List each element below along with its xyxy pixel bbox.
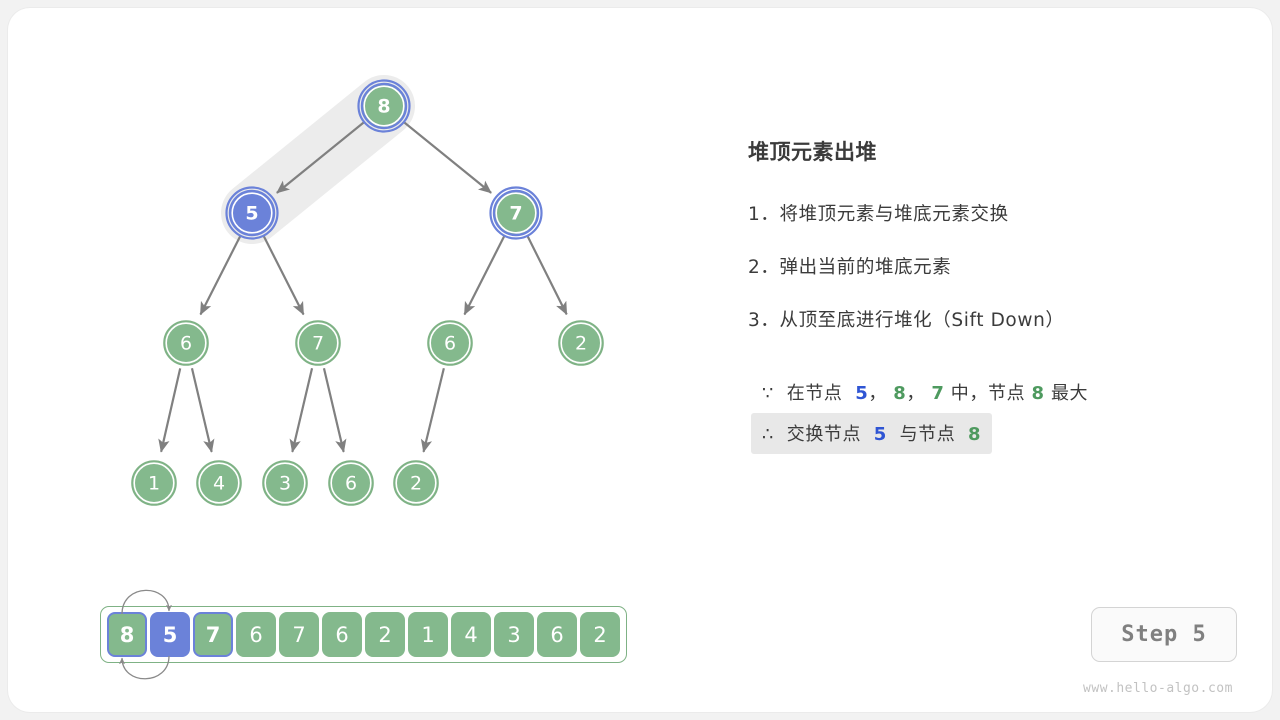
slide-canvas: 857676214362 堆顶元素出堆 1．将堆顶元素与堆底元素交换 2．弹出当… <box>0 0 1280 720</box>
node-value: 1 <box>148 473 160 495</box>
heap-array-region: 857676214362 <box>100 606 627 663</box>
reasoning-group: ∵ 在节点 5， 8， 7 中，节点 8 最大 ∴ 交换节点 5 与节点 <box>748 372 1248 454</box>
array-cell-2: 7 <box>193 612 233 657</box>
node-value: 5 <box>245 203 258 225</box>
tree-edge-7 <box>192 368 212 452</box>
step-badge: Step 5 <box>1091 607 1237 662</box>
tree-edge-1 <box>404 122 491 192</box>
node-value: 6 <box>444 333 456 355</box>
tree-node-3: 6 <box>164 321 208 365</box>
tree-node-11: 2 <box>394 461 438 505</box>
tree-node-10: 6 <box>329 461 373 505</box>
because-line: ∵ 在节点 5， 8， 7 中，节点 8 最大 <box>751 372 1099 413</box>
array-cell-8: 4 <box>451 612 491 657</box>
array-cell-6: 2 <box>365 612 405 657</box>
page-title: 堆顶元素出堆 <box>748 136 1248 166</box>
therefore-line: ∴ 交换节点 5 与节点 8 <box>751 413 992 454</box>
therefore-prefix: 交换节点 <box>787 424 861 445</box>
because-sep-1: ， <box>868 383 887 404</box>
because-symbol: ∵ <box>762 383 774 404</box>
tree-node-8: 4 <box>197 461 241 505</box>
binary-heap-tree: 857676214362 <box>8 8 728 568</box>
array-cell-11: 2 <box>580 612 620 657</box>
therefore-symbol: ∴ <box>762 424 774 445</box>
node-value: 2 <box>410 473 422 495</box>
node-value: 6 <box>180 333 192 355</box>
tree-edge-10 <box>424 368 444 452</box>
tree-edge-4 <box>464 236 504 314</box>
node-value: 7 <box>312 333 324 355</box>
therefore-value-1: 5 <box>874 424 887 445</box>
because-value-1: 5 <box>855 383 868 404</box>
watermark: www.hello-algo.com <box>1078 681 1238 696</box>
node-value: 2 <box>575 333 587 355</box>
tree-edge-9 <box>324 368 344 452</box>
tree-edge-6 <box>161 368 180 451</box>
therefore-line-row: ∴ 交换节点 5 与节点 8 <box>748 413 1248 454</box>
step-item-3: 3．从顶至底进行堆化（Sift Down） <box>748 306 1248 332</box>
because-prefix: 在节点 <box>787 383 843 404</box>
tree-node-9: 3 <box>263 461 307 505</box>
node-value: 4 <box>213 473 225 495</box>
because-value-4: 8 <box>1032 383 1045 404</box>
because-value-3: 7 <box>931 383 944 404</box>
tree-edge-8 <box>292 368 312 452</box>
because-value-2: 8 <box>893 383 906 404</box>
tree-node-2: 7 <box>491 188 542 239</box>
tree-node-4: 7 <box>296 321 340 365</box>
array-cell-10: 6 <box>537 612 577 657</box>
because-middle: 中，节点 <box>951 383 1025 404</box>
tree-node-1: 5 <box>227 188 278 239</box>
array-cell-4: 7 <box>279 612 319 657</box>
explanation-column: 堆顶元素出堆 1．将堆顶元素与堆底元素交换 2．弹出当前的堆底元素 3．从顶至底… <box>748 136 1248 454</box>
heap-array: 857676214362 <box>100 606 627 663</box>
node-value: 3 <box>279 473 291 495</box>
tree-node-5: 6 <box>428 321 472 365</box>
node-value: 6 <box>345 473 357 495</box>
array-cell-5: 6 <box>322 612 362 657</box>
tree-node-6: 2 <box>559 321 603 365</box>
array-cell-9: 3 <box>494 612 534 657</box>
tree-edges <box>161 122 567 452</box>
tree-edge-3 <box>264 236 304 314</box>
array-cell-1: 5 <box>150 612 190 657</box>
therefore-value-2: 8 <box>968 424 981 445</box>
node-value: 8 <box>377 96 390 118</box>
therefore-middle: 与节点 <box>900 424 956 445</box>
because-sep-2: ， <box>906 383 925 404</box>
tree-node-0: 8 <box>359 81 410 132</box>
tree-node-7: 1 <box>132 461 176 505</box>
tree-edge-5 <box>528 236 567 314</box>
node-value: 7 <box>509 203 522 225</box>
array-cell-7: 1 <box>408 612 448 657</box>
white-panel: 857676214362 堆顶元素出堆 1．将堆顶元素与堆底元素交换 2．弹出当… <box>8 8 1272 712</box>
tree-edge-2 <box>200 236 240 314</box>
because-suffix: 最大 <box>1051 383 1088 404</box>
array-cell-3: 6 <box>236 612 276 657</box>
step-item-1: 1．将堆顶元素与堆底元素交换 <box>748 200 1248 226</box>
array-cell-0: 8 <box>107 612 147 657</box>
because-line-row: ∵ 在节点 5， 8， 7 中，节点 8 最大 <box>748 372 1248 413</box>
step-item-2: 2．弹出当前的堆底元素 <box>748 253 1248 279</box>
